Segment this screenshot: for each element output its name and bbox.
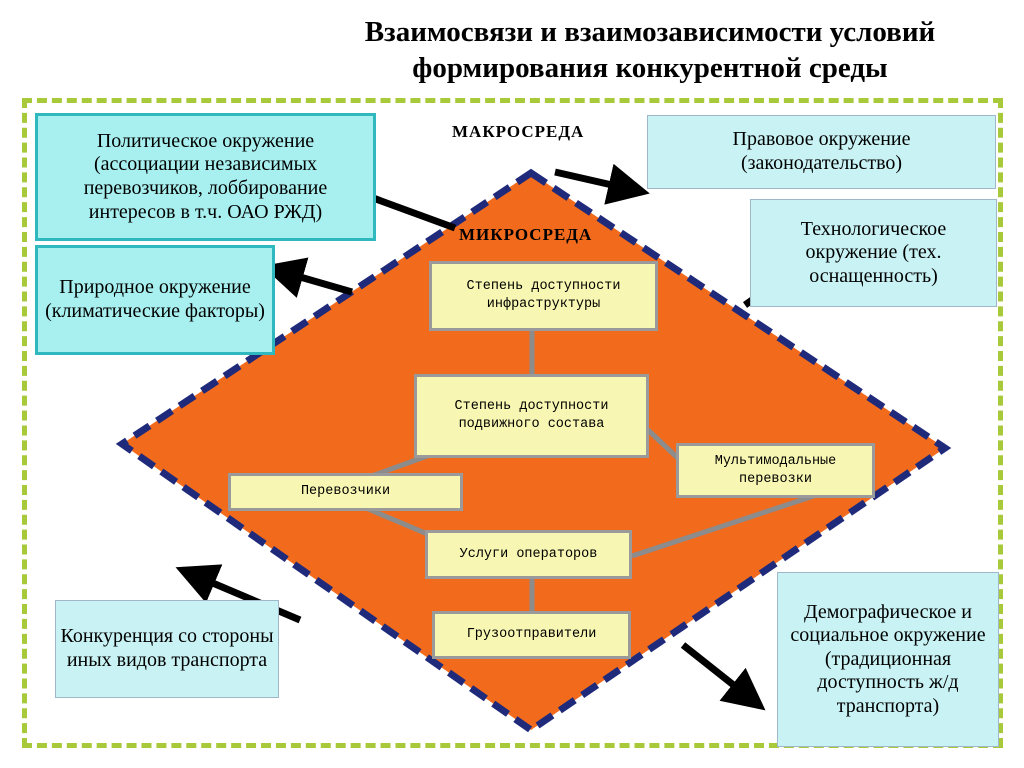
macro-box-competition[interactable]: Конкуренция со стороны иных видов трансп… <box>55 600 279 698</box>
arrow-demographic <box>683 645 760 706</box>
macro-box-political[interactable]: Политическое окружение (ассоциации незав… <box>35 113 376 241</box>
arrow-legal <box>555 172 643 192</box>
micro-box-shippers[interactable]: Грузоотправители <box>432 611 631 659</box>
micro-box-carriers[interactable]: Перевозчики <box>228 473 463 511</box>
macro-box-legal[interactable]: Правовое окружение (законодательство) <box>647 115 996 189</box>
macro-environment-label: МАКРОСРЕДА <box>452 122 584 142</box>
macro-box-technological[interactable]: Технологическое окружение (тех. оснащенн… <box>750 199 997 307</box>
micro-box-rolling-stock[interactable]: Степень доступности подвижного состава <box>414 374 649 458</box>
micro-box-multimodal[interactable]: Мультимодальные перевозки <box>676 443 875 498</box>
arrow-natural <box>269 268 352 292</box>
macro-box-natural[interactable]: Природное окружение (климатические факто… <box>35 245 275 355</box>
micro-box-operator-services[interactable]: Услуги операторов <box>425 530 632 579</box>
slide-canvas: Взаимосвязи и взаимозависимости условий … <box>0 0 1024 768</box>
micro-box-infrastructure[interactable]: Степень доступности инфраструктуры <box>429 261 658 331</box>
micro-environment-label: МИКРОСРЕДА <box>459 225 592 245</box>
macro-box-demographic[interactable]: Демографическое и социальное окружение (… <box>777 572 999 747</box>
